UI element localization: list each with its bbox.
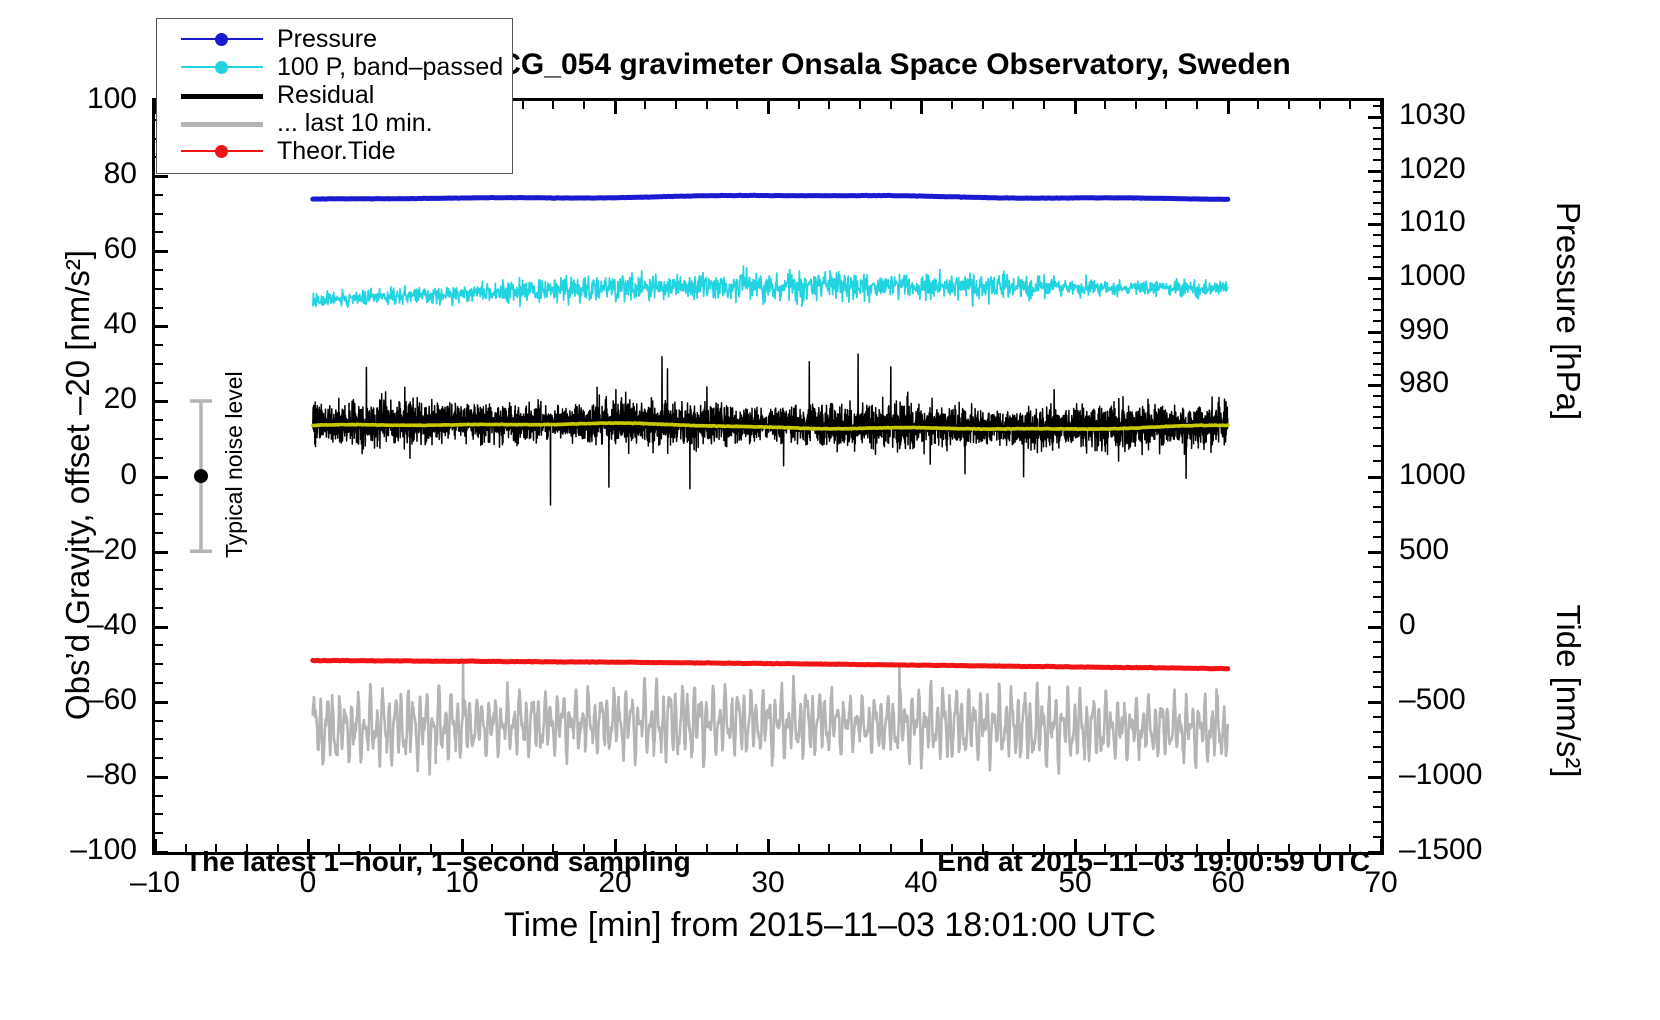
- tick-mark: [1373, 445, 1381, 447]
- tick-label: –100: [5, 833, 137, 867]
- tick-mark: [767, 839, 770, 852]
- legend-item-1[interactable]: 100 P, band–passed: [157, 53, 512, 81]
- tick-mark: [155, 757, 163, 759]
- tick-mark: [155, 720, 163, 722]
- tick-label: 1000: [1399, 259, 1519, 293]
- tick-mark: [1373, 127, 1381, 129]
- tick-mark: [1349, 101, 1351, 109]
- tick-mark: [1074, 101, 1077, 114]
- legend-line-icon: [181, 122, 263, 127]
- tick-mark: [736, 844, 738, 852]
- tick-mark: [1196, 101, 1198, 109]
- tick-mark: [155, 419, 163, 421]
- tick-mark: [1368, 384, 1381, 387]
- tick-mark: [1165, 101, 1167, 109]
- tick-label: 20: [5, 382, 137, 416]
- tick-mark: [1373, 288, 1381, 290]
- tick-mark: [155, 513, 163, 515]
- tick-mark: [155, 325, 168, 328]
- tick-label: 1010: [1399, 205, 1519, 239]
- tick-label: –1000: [1399, 758, 1549, 792]
- chart-title: SCG_054 gravimeter Onsala Space Observat…: [380, 48, 1390, 82]
- tick-mark: [1373, 363, 1381, 365]
- y-axis-title-pressure: Pressure [hPa]: [1549, 166, 1587, 456]
- tick-mark: [1368, 116, 1381, 119]
- tick-mark: [155, 400, 168, 403]
- tick-mark: [1368, 701, 1381, 704]
- chart-root: SCG_054 gravimeter Onsala Space Observat…: [0, 0, 1660, 1020]
- tick-mark: [920, 101, 923, 114]
- tick-mark: [155, 213, 163, 215]
- tick-mark: [1373, 806, 1381, 808]
- tick-mark: [890, 101, 892, 109]
- tick-mark: [767, 101, 770, 114]
- tick-mark: [155, 438, 163, 440]
- tick-mark: [583, 101, 585, 109]
- tick-label: –20: [5, 533, 137, 567]
- tick-mark: [1373, 791, 1381, 793]
- tick-label: 30: [708, 866, 828, 900]
- tick-mark: [1373, 266, 1381, 268]
- tick-mark: [1373, 746, 1381, 748]
- tick-mark: [155, 457, 163, 459]
- tick-mark: [155, 832, 163, 834]
- tick-mark: [920, 839, 923, 852]
- legend-swatch: [181, 57, 263, 77]
- tick-mark: [1373, 836, 1381, 838]
- tick-mark: [155, 644, 163, 646]
- tick-mark: [1135, 101, 1137, 109]
- tick-mark: [1373, 352, 1381, 354]
- tick-label: 40: [5, 307, 137, 341]
- tick-mark: [1373, 298, 1381, 300]
- legend-label: Residual: [277, 81, 374, 110]
- tick-mark: [1373, 656, 1381, 658]
- tick-mark: [1373, 148, 1381, 150]
- tick-mark: [155, 288, 163, 290]
- tick-mark: [798, 844, 800, 852]
- tick-mark: [1373, 341, 1381, 343]
- tick-mark: [155, 663, 163, 665]
- tick-mark: [1380, 101, 1383, 114]
- tick-mark: [1368, 331, 1381, 334]
- series-bandpassed-pressure: [313, 266, 1228, 307]
- tick-mark: [155, 551, 168, 554]
- tick-mark: [155, 269, 163, 271]
- tick-mark: [1104, 101, 1106, 109]
- tick-mark: [1373, 611, 1381, 613]
- tick-mark: [155, 194, 163, 196]
- tick-label: 1030: [1399, 98, 1519, 132]
- tick-mark: [1368, 170, 1381, 173]
- tick-mark: [155, 476, 168, 479]
- tick-mark: [1373, 309, 1381, 311]
- tick-mark: [1368, 776, 1381, 779]
- tick-mark: [1380, 839, 1383, 852]
- legend-swatch: [181, 85, 263, 105]
- tick-label: –1500: [1399, 833, 1549, 867]
- tick-mark: [951, 101, 953, 109]
- tick-label: –40: [5, 608, 137, 642]
- tick-mark: [1373, 761, 1381, 763]
- tick-mark: [155, 344, 163, 346]
- legend-swatch: [181, 113, 263, 133]
- tick-mark: [155, 569, 163, 571]
- tick-mark: [1373, 180, 1381, 182]
- tick-mark: [828, 844, 830, 852]
- tick-mark: [706, 844, 708, 852]
- tick-mark: [1373, 521, 1381, 523]
- tick-mark: [1373, 596, 1381, 598]
- tick-label: 0: [1399, 608, 1549, 642]
- annotation-end-time: End at 2015–11–03 19:00:59 UTC: [937, 846, 1370, 878]
- tick-mark: [1373, 566, 1381, 568]
- legend-label: ... last 10 min.: [277, 109, 433, 138]
- tick-mark: [1373, 821, 1381, 823]
- tick-label: 1000: [1399, 458, 1549, 492]
- annotation-sampling-note: The latest 1–hour, 1–second sampling: [185, 846, 691, 878]
- legend-item-4[interactable]: Theor.Tide: [157, 137, 512, 165]
- legend-swatch: [181, 29, 263, 49]
- tick-mark: [1373, 716, 1381, 718]
- tick-mark: [1373, 395, 1381, 397]
- tick-mark: [1368, 476, 1381, 479]
- tick-mark: [155, 175, 168, 178]
- tick-label: 500: [1399, 533, 1549, 567]
- tick-label: 1020: [1399, 152, 1519, 186]
- tick-mark: [1373, 245, 1381, 247]
- tick-mark: [155, 231, 163, 233]
- tick-mark: [1373, 581, 1381, 583]
- tick-mark: [155, 682, 163, 684]
- series-theoretical-tide: [313, 660, 1228, 668]
- tick-mark: [155, 307, 163, 309]
- legend-swatch: [181, 141, 263, 161]
- tick-mark: [552, 101, 554, 109]
- tick-mark: [1373, 460, 1381, 462]
- tick-mark: [1227, 101, 1230, 114]
- tick-mark: [1288, 101, 1290, 109]
- tick-mark: [1043, 101, 1045, 109]
- plot-canvas: [155, 101, 1381, 852]
- tick-mark: [1368, 551, 1381, 554]
- tick-mark: [1373, 256, 1381, 258]
- series-pressure: [313, 195, 1228, 199]
- tick-mark: [1373, 138, 1381, 140]
- tick-mark: [155, 738, 163, 740]
- tick-mark: [155, 701, 168, 704]
- series-last-10-min: [313, 664, 1228, 774]
- tick-mark: [155, 363, 163, 365]
- tick-mark: [155, 588, 163, 590]
- tick-mark: [1012, 101, 1014, 109]
- tick-mark: [155, 795, 163, 797]
- tick-label: 990: [1399, 313, 1519, 347]
- tick-mark: [155, 494, 163, 496]
- tick-label: –500: [1399, 683, 1549, 717]
- tick-mark: [1373, 686, 1381, 688]
- tick-mark: [1373, 406, 1381, 408]
- legend-label: 100 P, band–passed: [277, 53, 503, 82]
- tick-mark: [155, 532, 163, 534]
- tick-label: 100: [5, 82, 137, 116]
- tick-label: 0: [5, 458, 137, 492]
- tick-mark: [1373, 427, 1381, 429]
- tick-label: 980: [1399, 366, 1519, 400]
- legend-marker-icon: [215, 61, 228, 74]
- tick-mark: [1319, 101, 1321, 109]
- tick-mark: [828, 101, 830, 109]
- tick-label: 60: [5, 232, 137, 266]
- tick-mark: [1373, 374, 1381, 376]
- legend-line-icon: [181, 94, 263, 99]
- series-svg: [155, 101, 1381, 852]
- tick-mark: [155, 626, 168, 629]
- error-bar-center-dot: [194, 469, 208, 483]
- tick-mark: [1373, 416, 1381, 418]
- tick-mark: [1373, 213, 1381, 215]
- tick-mark: [798, 101, 800, 109]
- tick-mark: [155, 250, 168, 253]
- tick-mark: [155, 607, 163, 609]
- tick-mark: [982, 101, 984, 109]
- tick-mark: [155, 813, 163, 815]
- tick-mark: [1373, 491, 1381, 493]
- tick-mark: [1373, 202, 1381, 204]
- tick-mark: [1373, 731, 1381, 733]
- tick-mark: [1373, 191, 1381, 193]
- tick-mark: [675, 101, 677, 109]
- y-axis-title-tide: Tide [nm/s²]: [1549, 561, 1587, 821]
- tick-mark: [1373, 641, 1381, 643]
- tick-mark: [736, 101, 738, 109]
- tick-mark: [1373, 671, 1381, 673]
- tick-mark: [1373, 506, 1381, 508]
- tick-mark: [1368, 277, 1381, 280]
- tick-mark: [644, 101, 646, 109]
- tick-label: –80: [5, 758, 137, 792]
- tick-mark: [859, 844, 861, 852]
- tick-mark: [859, 101, 861, 109]
- tick-mark: [1368, 626, 1381, 629]
- tick-mark: [1257, 101, 1259, 109]
- tick-mark: [1373, 320, 1381, 322]
- tick-mark: [155, 776, 168, 779]
- legend: Pressure100 P, band–passedResidual... la…: [156, 18, 513, 174]
- legend-label: Pressure: [277, 25, 377, 54]
- noise-level-label: Typical noise level: [221, 371, 248, 558]
- tick-mark: [1373, 536, 1381, 538]
- tick-mark: [1373, 234, 1381, 236]
- tick-mark: [614, 101, 617, 114]
- legend-label: Theor.Tide: [277, 137, 396, 166]
- tick-mark: [155, 382, 163, 384]
- tick-mark: [890, 844, 892, 852]
- legend-marker-icon: [215, 145, 228, 158]
- legend-marker-icon: [215, 33, 228, 46]
- legend-item-0[interactable]: Pressure: [157, 25, 512, 53]
- tick-mark: [1368, 223, 1381, 226]
- tick-mark: [1373, 159, 1381, 161]
- plot-area: [152, 98, 1384, 855]
- legend-item-2[interactable]: Residual: [157, 81, 512, 109]
- tick-mark: [154, 839, 157, 852]
- tick-label: –60: [5, 683, 137, 717]
- x-axis-title: Time [min] from 2015–11–03 18:01:00 UTC: [0, 906, 1660, 945]
- tick-mark: [522, 101, 524, 109]
- tick-mark: [706, 101, 708, 109]
- tick-label: 80: [5, 157, 137, 191]
- legend-item-3[interactable]: ... last 10 min.: [157, 109, 512, 137]
